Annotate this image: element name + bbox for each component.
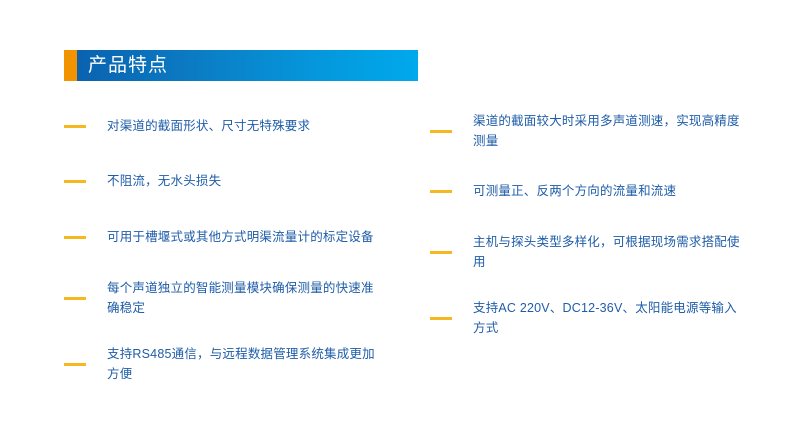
list-item: 可测量正、反两个方向的流量和流速 (430, 176, 740, 206)
section-header-bar: 产品特点 (64, 50, 418, 81)
page-title: 产品特点 (77, 56, 168, 75)
list-item: 渠道的截面较大时采用多声道测速，实现高精度测量 (430, 111, 740, 151)
feature-column-right: 渠道的截面较大时采用多声道测速，实现高精度测量 可测量正、反两个方向的流量和流速… (0, 111, 450, 409)
list-item-label: 可测量正、反两个方向的流量和流速 (473, 181, 740, 201)
list-item-label: 支持AC 220V、DC12-36V、太阳能电源等输入方式 (473, 298, 740, 338)
header-gradient-block: 产品特点 (77, 50, 418, 81)
list-item: 主机与探头类型多样化，可根据现场需求搭配使用 (430, 232, 740, 272)
dash-bullet-icon (430, 130, 452, 133)
header-accent-block (64, 50, 77, 81)
dash-bullet-icon (430, 251, 452, 254)
list-item: 支持AC 220V、DC12-36V、太阳能电源等输入方式 (430, 298, 740, 338)
feature-columns: 对渠道的截面形状、尺寸无特殊要求 不阻流，无水头损失 可用于槽堰式或其他方式明渠… (0, 111, 800, 409)
list-item-label: 主机与探头类型多样化，可根据现场需求搭配使用 (473, 232, 740, 272)
dash-bullet-icon (430, 190, 452, 193)
list-item-label: 渠道的截面较大时采用多声道测速，实现高精度测量 (473, 111, 740, 151)
slide-canvas: 产品特点 对渠道的截面形状、尺寸无特殊要求 不阻流，无水头损失 可用于槽堰式或其… (0, 0, 800, 429)
dash-bullet-icon (430, 317, 452, 320)
